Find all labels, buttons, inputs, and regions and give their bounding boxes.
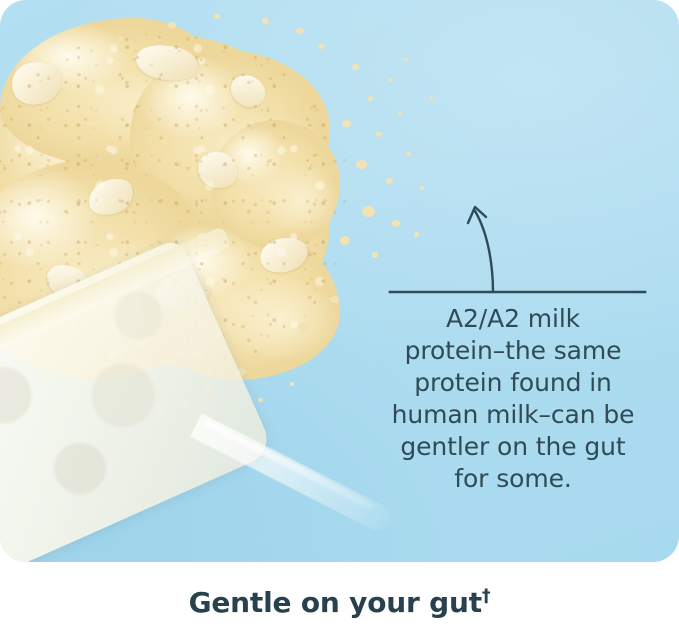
powder-speck bbox=[398, 112, 402, 115]
powder-speck bbox=[342, 120, 351, 127]
screenshot-root: A2/A2 milk protein–the same protein foun… bbox=[0, 0, 679, 642]
callout-text-block: A2/A2 milk protein–the same protein foun… bbox=[380, 303, 646, 495]
powder-speck bbox=[298, 322, 310, 332]
callout-line-1: A2/A2 milk bbox=[380, 303, 646, 335]
caption-text: Gentle on your gut bbox=[189, 586, 482, 619]
powder-speck bbox=[372, 252, 378, 258]
powder-speck bbox=[118, 36, 124, 41]
powder-speck bbox=[352, 64, 359, 70]
callout-line-6: for some. bbox=[380, 463, 646, 495]
powder-speck bbox=[406, 152, 411, 156]
powder-speck bbox=[318, 44, 324, 49]
curved-arrow-shaft bbox=[475, 211, 493, 292]
powder-speck bbox=[356, 160, 367, 169]
powder-speck bbox=[330, 296, 339, 303]
powder-speck bbox=[262, 18, 269, 24]
callout-line-2: protein–the same bbox=[380, 335, 646, 367]
callout-line-5: gentler on the gut bbox=[380, 431, 646, 463]
powder-speck bbox=[290, 382, 294, 386]
powder-speck bbox=[296, 28, 304, 34]
callout-arrow-group bbox=[380, 195, 660, 305]
powder-speck bbox=[430, 96, 433, 99]
powder-speck bbox=[340, 236, 350, 245]
callout-line-4: human milk–can be bbox=[380, 399, 646, 431]
bottom-caption: Gentle on your gut† bbox=[0, 586, 679, 619]
powder-speck bbox=[388, 78, 392, 82]
powder-speck bbox=[386, 178, 393, 184]
caption-footnote-marker: † bbox=[482, 587, 490, 607]
powder-speck bbox=[168, 22, 176, 29]
powder-speck bbox=[214, 14, 220, 19]
powder-speck bbox=[404, 58, 408, 61]
callout-line-3: protein found in bbox=[380, 367, 646, 399]
product-photo-panel: A2/A2 milk protein–the same protein foun… bbox=[0, 0, 679, 562]
powder-speck bbox=[376, 132, 382, 137]
powder-speck bbox=[420, 186, 424, 190]
powder-speck bbox=[362, 206, 375, 217]
powder-speck bbox=[368, 96, 373, 101]
powder-speck bbox=[258, 398, 263, 402]
powder-speck bbox=[266, 344, 274, 351]
